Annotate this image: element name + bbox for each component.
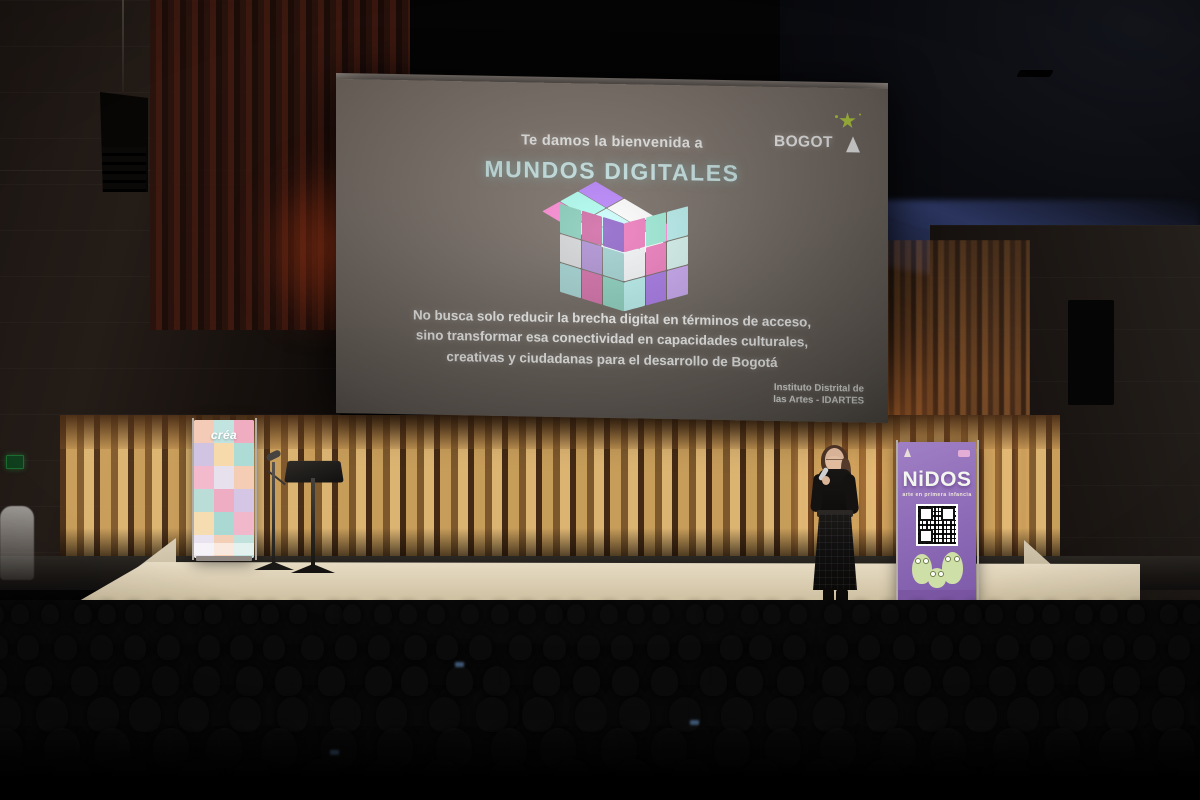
audience-silhouette <box>749 635 772 660</box>
audience-silhouette <box>789 604 807 624</box>
audience-silhouette <box>1100 604 1118 624</box>
audience-silhouette <box>11 604 29 624</box>
speaker-suspension-wire <box>122 0 124 92</box>
audience-silhouette <box>41 604 59 624</box>
audience-silhouette <box>575 697 607 732</box>
audience-silhouette <box>374 604 392 624</box>
audience-silhouette <box>881 604 899 624</box>
audience-silhouette <box>113 666 140 696</box>
audience-silhouette <box>87 697 119 732</box>
audience-silhouette <box>543 635 566 660</box>
nidos-subtitle: arte en primera infancia <box>898 492 976 498</box>
audience-silhouette <box>996 635 1019 660</box>
audience-silhouette <box>17 635 40 660</box>
audience-silhouette <box>289 604 307 624</box>
audience-silhouette <box>783 635 806 660</box>
audience-silhouette <box>198 635 221 660</box>
frog-eye-icon <box>945 556 951 562</box>
audience-silhouette <box>545 604 563 624</box>
crea-tile <box>214 443 234 466</box>
ceiling-vent-icon <box>1016 70 1054 77</box>
audience-silhouette <box>427 604 445 624</box>
microphone-stand-pole <box>272 462 275 568</box>
crea-tile <box>234 443 254 466</box>
audience-silhouette <box>985 604 1003 624</box>
crea-tile <box>214 512 234 535</box>
qr-eye-icon <box>919 507 933 521</box>
crea-tile <box>234 489 254 512</box>
audience-silhouette <box>611 635 634 660</box>
audience-silhouette <box>178 697 210 732</box>
audience-silhouette <box>491 604 509 624</box>
audience-silhouette <box>777 666 804 696</box>
crea-logo-text: créa <box>194 428 254 442</box>
audience-silhouette <box>71 666 98 696</box>
presenter-skirt <box>813 514 857 590</box>
crea-tile <box>234 466 254 489</box>
audience-silhouette <box>263 635 286 660</box>
audience-silhouette <box>236 666 263 696</box>
audience-silhouette <box>1075 604 1093 624</box>
audience-silhouette <box>1160 604 1178 624</box>
bogota-mark-icon <box>958 450 970 457</box>
audience-silhouette <box>1057 697 1089 732</box>
audience-silhouette <box>647 635 670 660</box>
crea-tile <box>194 512 214 535</box>
audience-silhouette <box>1103 635 1126 660</box>
audience-silhouette <box>157 635 180 660</box>
audience-silhouette <box>301 635 324 660</box>
audience-silhouette <box>368 635 391 660</box>
audience-silhouette <box>429 697 461 732</box>
crea-banner-footer <box>194 543 254 555</box>
audience-silhouette <box>577 635 600 660</box>
audience-silhouette <box>25 666 52 696</box>
frog-eye-icon <box>954 556 960 562</box>
phone-screen-glow <box>690 720 699 725</box>
audience-silhouette <box>1042 604 1060 624</box>
nidos-pole-right <box>977 440 979 608</box>
audience-silhouette <box>204 604 222 624</box>
audience-silhouette <box>1030 635 1053 660</box>
auditorium-photo: Te damos la bienvenida a MUNDOS DIGITALE… <box>0 0 1200 800</box>
phone-screen-glow <box>455 662 464 667</box>
audience-silhouette <box>1106 697 1138 732</box>
audience-silhouette <box>330 697 362 732</box>
speaker-box-right-icon <box>1068 300 1114 405</box>
audience-silhouette <box>124 635 147 660</box>
audience-silhouette <box>567 604 585 624</box>
line-array-speaker-icon <box>100 92 148 192</box>
crea-banner: créa <box>194 420 254 558</box>
audience-silhouette <box>937 604 955 624</box>
audience-silhouette <box>1078 666 1105 696</box>
audience-silhouette <box>904 666 931 696</box>
audience-silhouette <box>365 666 392 696</box>
music-stand-pole <box>311 478 315 570</box>
audience-silhouette <box>275 666 302 696</box>
audience-silhouette <box>573 666 600 696</box>
audience-silhouette <box>125 604 143 624</box>
audience-silhouette <box>1183 604 1200 624</box>
crea-tile <box>194 489 214 512</box>
audience-silhouette <box>509 635 532 660</box>
audience-silhouette <box>376 697 408 732</box>
audience-silhouette <box>230 635 253 660</box>
audience-silhouette <box>600 604 618 624</box>
audience-silhouette <box>826 635 849 660</box>
audience-silhouette <box>736 666 763 696</box>
frog-eye-icon <box>938 571 944 577</box>
audience-silhouette <box>893 635 916 660</box>
frog-eye-icon <box>930 571 936 577</box>
audience-silhouette <box>483 666 510 696</box>
audience-foreground-shadow <box>0 730 1200 800</box>
audience-silhouette <box>1133 635 1156 660</box>
audience-silhouette <box>261 604 279 624</box>
audience-silhouette <box>741 604 759 624</box>
audience-silhouette <box>651 666 678 696</box>
audience-silhouette <box>129 697 161 732</box>
qr-eye-icon <box>919 529 933 543</box>
crea-tile <box>194 466 214 489</box>
audience-silhouette <box>1168 635 1191 660</box>
frog-eye-icon <box>915 558 921 564</box>
audience-silhouette <box>943 666 970 696</box>
audience-silhouette <box>909 604 927 624</box>
banner-pole-right <box>255 418 257 560</box>
audience-silhouette <box>989 666 1016 696</box>
audience-silhouette <box>721 697 753 732</box>
audience-silhouette <box>193 666 220 696</box>
presenter <box>805 448 865 608</box>
audience-silhouette <box>813 697 845 732</box>
crea-tile <box>234 512 254 535</box>
idartes-mark-icon <box>904 448 911 457</box>
crea-tile <box>214 466 234 489</box>
audience-silhouette <box>612 666 639 696</box>
audience-silhouette <box>1190 685 1200 726</box>
audience-silhouette <box>229 697 261 732</box>
audience-silhouette <box>1113 666 1140 696</box>
audience-silhouette <box>1027 666 1054 696</box>
qr-eye-icon <box>941 507 955 521</box>
audience-silhouette <box>766 697 798 732</box>
screen-vignette <box>336 79 888 423</box>
audience-silhouette <box>404 635 427 660</box>
audience-silhouette <box>1158 666 1185 696</box>
presenter-hand <box>822 476 830 485</box>
audience-silhouette <box>533 666 560 696</box>
audience-silhouette <box>277 697 309 732</box>
audience-silhouette <box>669 697 701 732</box>
frog-baby-icon <box>928 568 946 588</box>
audience-silhouette <box>156 604 174 624</box>
audience-silhouette <box>522 697 554 732</box>
audience-silhouette <box>476 697 508 732</box>
audience-silhouette <box>652 604 670 624</box>
audience-silhouette <box>866 697 898 732</box>
audience-silhouette <box>619 697 651 732</box>
audience-silhouette <box>858 635 881 660</box>
audience-silhouette <box>436 635 459 660</box>
qr-code-icon <box>916 504 958 546</box>
audience-silhouette <box>74 604 92 624</box>
audience-silhouette <box>335 635 358 660</box>
audience-silhouette <box>518 604 536 624</box>
audience-silhouette <box>852 604 870 624</box>
audience-silhouette <box>343 604 361 624</box>
audience-silhouette <box>152 666 179 696</box>
audience-silhouette <box>318 666 345 696</box>
audience-silhouette <box>54 635 77 660</box>
exit-sign-icon <box>6 455 24 469</box>
frog-eye-icon <box>923 558 929 564</box>
audience-silhouette <box>931 635 954 660</box>
audience-silhouette <box>700 666 727 696</box>
banner-pole-left <box>192 418 194 560</box>
audience-silhouette <box>720 635 743 660</box>
audience-silhouette <box>917 697 949 732</box>
nidos-logo-text: NiDOS <box>898 468 976 492</box>
audience-silhouette <box>867 666 894 696</box>
audience-silhouette <box>461 604 479 624</box>
audience-silhouette <box>763 604 781 624</box>
audience-silhouette <box>90 635 113 660</box>
audience-silhouette <box>706 604 724 624</box>
audience-silhouette <box>36 697 68 732</box>
audience-silhouette <box>1016 604 1034 624</box>
audience-silhouette <box>1152 697 1184 732</box>
audience-silhouette <box>1067 635 1090 660</box>
nidos-pole-left <box>896 440 898 608</box>
audience-silhouette <box>824 604 842 624</box>
nidos-banner: NiDOS arte en primera infancia <box>898 442 976 606</box>
audience-silhouette <box>469 635 492 660</box>
audience-silhouette <box>822 666 849 696</box>
audience-silhouette <box>399 604 417 624</box>
crea-tile <box>194 443 214 466</box>
audience-silhouette <box>1007 697 1039 732</box>
audience-silhouette <box>959 635 982 660</box>
audience-silhouette <box>627 604 645 624</box>
audience-silhouette <box>965 697 997 732</box>
projection-screen: Te damos la bienvenida a MUNDOS DIGITALE… <box>336 79 888 423</box>
audience-silhouette <box>98 604 116 624</box>
crea-banner-base <box>196 556 252 561</box>
audience-silhouette <box>401 666 428 696</box>
audience-silhouette <box>1127 604 1145 624</box>
audience-member-aisle <box>0 506 34 580</box>
audience-silhouette <box>678 635 701 660</box>
crea-tile <box>214 489 234 512</box>
audience-silhouette <box>446 666 473 696</box>
